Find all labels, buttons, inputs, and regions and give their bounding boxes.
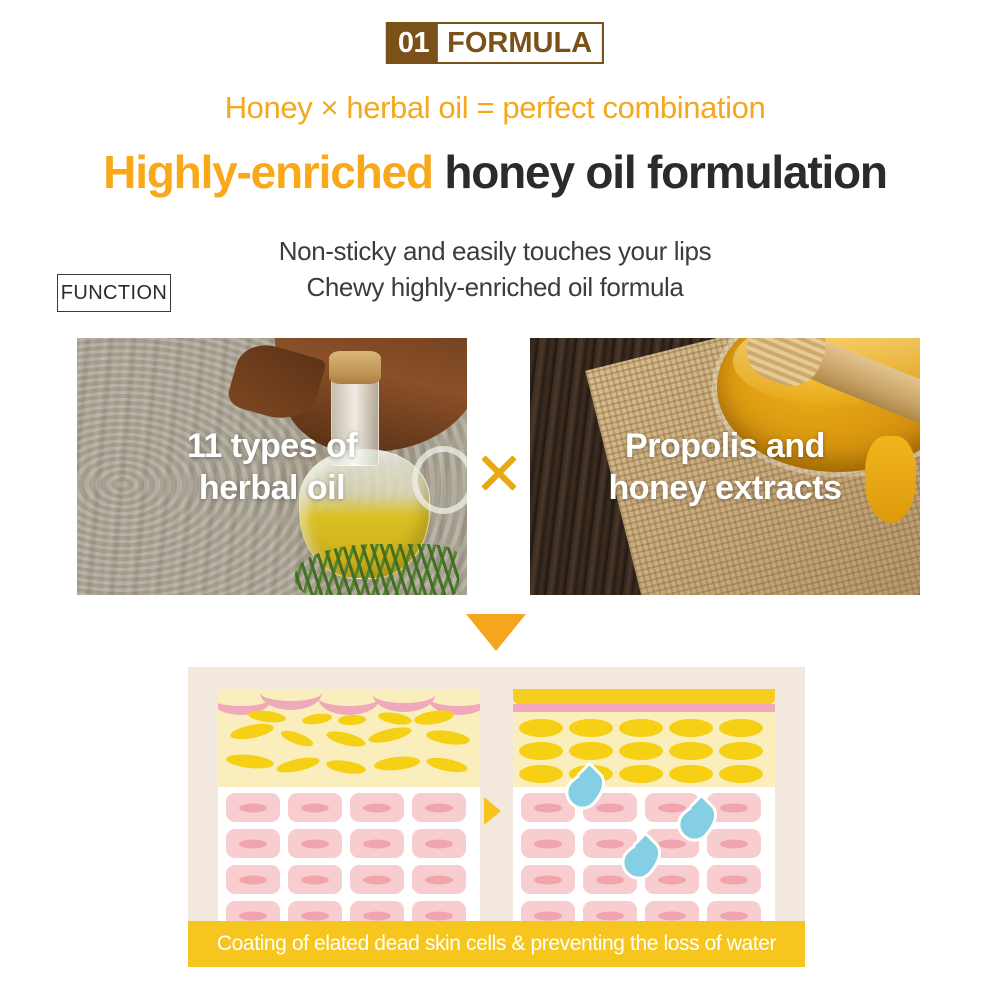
multiply-icon (468, 442, 530, 504)
skin-cell (412, 793, 466, 822)
dead-skin-flake (325, 758, 366, 776)
ordered-skin-cell (669, 742, 713, 760)
skin-cell (350, 829, 404, 858)
ordered-skin-cell (719, 765, 763, 783)
dead-skin-flake (225, 753, 274, 771)
photo-right-caption: Propolis and honey extracts (530, 425, 920, 509)
ordered-skin-cell (669, 719, 713, 737)
ordered-skin-cell (619, 742, 663, 760)
dead-skin-flake (425, 728, 470, 747)
dead-skin-flake (275, 755, 321, 776)
photo-left-caption-line-1: 11 types of (77, 425, 467, 467)
ordered-skin-cell (569, 742, 613, 760)
skin-cell (288, 829, 342, 858)
formula-badge: 01 FORMULA (386, 22, 604, 64)
oil-coating-layer (513, 689, 775, 704)
down-arrow-icon (466, 614, 526, 651)
description-line-2: Chewy highly-enriched oil formula (0, 269, 990, 305)
dead-skin-flake (325, 728, 367, 749)
skin-cell (707, 865, 761, 894)
skin-diagram-panel: Coating of elated dead skin cells & prev… (188, 667, 805, 967)
headline-rest: honey oil formulation (433, 146, 887, 198)
photo-right-caption-line-2: honey extracts (530, 467, 920, 509)
skin-cell (288, 865, 342, 894)
ordered-skin-cell (719, 719, 763, 737)
scallop-edge (318, 689, 380, 715)
description-line-1: Non-sticky and easily touches your lips (0, 233, 990, 269)
headline-accent: Highly-enriched (103, 146, 433, 198)
ordered-skin-cell (519, 742, 563, 760)
skin-cell (350, 793, 404, 822)
skin-cell-grid-before (218, 787, 480, 937)
dead-skin-flake (367, 724, 413, 746)
dead-skin-flake (377, 710, 412, 727)
skin-cell (350, 865, 404, 894)
skin-cell (226, 865, 280, 894)
skin-cell (288, 793, 342, 822)
ordered-skin-cell (519, 765, 563, 783)
dead-skin-flake (279, 728, 315, 750)
skin-panel-before (218, 689, 480, 937)
dead-skin-flake (301, 712, 332, 726)
page-title: Highly-enriched honey oil formulation (0, 145, 990, 199)
badge-word: FORMULA (438, 24, 602, 62)
dead-skin-flake (413, 708, 455, 727)
ordered-skin-cell (669, 765, 713, 783)
ordered-skin-cell (619, 765, 663, 783)
coating-pink-line (513, 704, 775, 712)
ordered-skin-cell (619, 719, 663, 737)
subtitle: Honey × herbal oil = perfect combination (0, 90, 990, 126)
dead-skin-flake (338, 714, 366, 725)
diagram-caption-text: Coating of elated dead skin cells & prev… (217, 932, 776, 956)
photo-herbal-oil: 11 types of herbal oil (77, 338, 467, 595)
stratum-corneum-dry (218, 689, 480, 787)
scallop-edge (260, 689, 322, 710)
skin-cell (412, 865, 466, 894)
skin-cell (226, 829, 280, 858)
badge-number: 01 (388, 24, 438, 62)
ordered-skin-cell (569, 719, 613, 737)
skin-panel-after (513, 689, 775, 937)
photo-left-caption-line-2: herbal oil (77, 467, 467, 509)
ordered-skin-cell (519, 719, 563, 737)
function-description: Non-sticky and easily touches your lips … (0, 233, 990, 305)
skin-cell (707, 829, 761, 858)
skin-cell (521, 829, 575, 858)
transition-arrow-icon (484, 797, 501, 825)
photo-right-caption-line-1: Propolis and (530, 425, 920, 467)
scallop-edge (373, 689, 435, 712)
dead-skin-flake (373, 755, 420, 773)
dead-skin-flake (425, 755, 469, 775)
photo-honey-propolis: Propolis and honey extracts (530, 338, 920, 595)
cork-stopper-icon (329, 351, 382, 384)
photo-left-caption: 11 types of herbal oil (77, 425, 467, 509)
skin-cell (226, 793, 280, 822)
skin-cell (521, 865, 575, 894)
dead-skin-flake (229, 721, 275, 742)
dead-skin-flake (247, 709, 286, 725)
stratum-corneum-coated (513, 689, 775, 787)
ordered-skin-cell (719, 742, 763, 760)
skin-cell (412, 829, 466, 858)
diagram-caption-bar: Coating of elated dead skin cells & prev… (188, 921, 805, 967)
